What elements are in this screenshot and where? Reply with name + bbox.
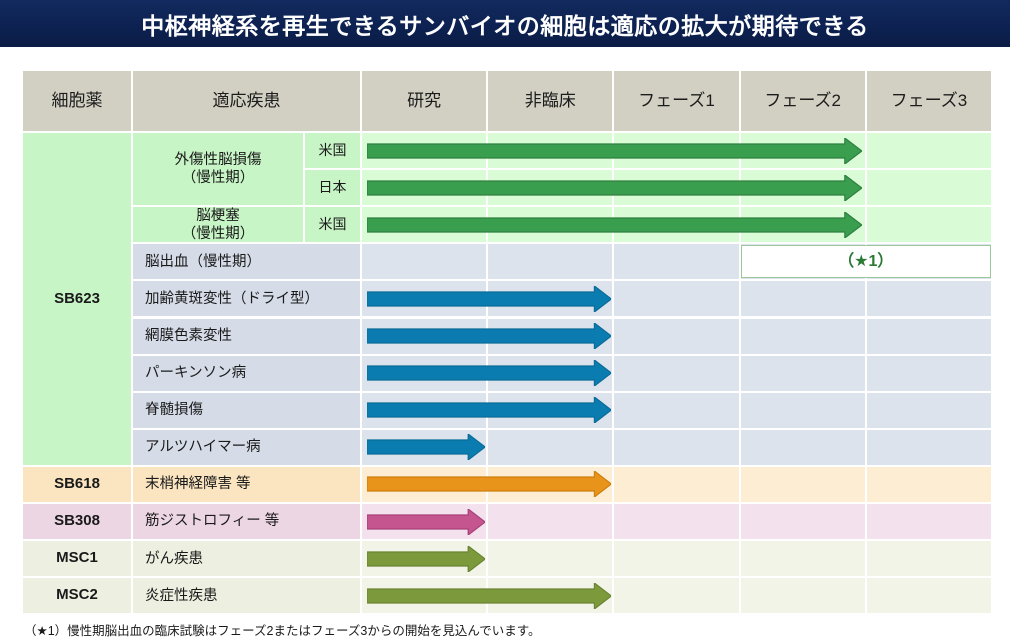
- stage-cell: [866, 577, 992, 614]
- stage-cell: [740, 577, 866, 614]
- title-banner: 中枢神経系を再生できるサンバイオの細胞は適応の拡大が期待できる: [0, 0, 1010, 47]
- page-title: 中枢神経系を再生できるサンバイオの細胞は適応の拡大が期待できる: [141, 7, 869, 41]
- region-label: 日本: [304, 169, 361, 206]
- header-drug: 細胞薬: [22, 70, 132, 132]
- disease-label: 脳出血（慢性期）: [132, 243, 361, 280]
- stage-cell: [487, 540, 613, 577]
- stage-cell: [361, 243, 487, 280]
- stage-cell: [613, 243, 739, 280]
- header-stage-4: フェーズ2: [740, 70, 866, 132]
- stage-cell: [866, 280, 992, 317]
- stage-cell: [866, 503, 992, 540]
- disease-label: 筋ジストロフィー 等: [132, 503, 361, 540]
- pipeline-arrow-blue: [367, 397, 611, 423]
- disease-label: 脳梗塞（慢性期）: [132, 206, 304, 243]
- stage-cell: [740, 355, 866, 392]
- stage-cell: [866, 540, 992, 577]
- pipeline-arrow-green: [367, 138, 862, 164]
- stage-cell: [866, 429, 992, 466]
- disease-label: 末梢神経障害 等: [132, 466, 361, 503]
- stage-cell: [866, 132, 992, 169]
- disease-label: 炎症性疾患: [132, 577, 361, 614]
- pipeline-grid: 細胞薬適応疾患研究非臨床フェーズ1フェーズ2フェーズ3SB623SB618SB3…: [22, 70, 992, 615]
- drug-label-msc2: MSC2: [22, 577, 132, 614]
- pipeline-arrow-green: [367, 175, 862, 201]
- header-stage-1: 研究: [361, 70, 487, 132]
- stage-cell: [866, 466, 992, 503]
- disease-label: 網膜色素変性: [132, 318, 361, 355]
- stage-cell: [740, 318, 866, 355]
- pipeline-table: 細胞薬適応疾患研究非臨床フェーズ1フェーズ2フェーズ3SB623SB618SB3…: [22, 70, 992, 615]
- stage-cell: [487, 243, 613, 280]
- pipeline-arrow-pink: [367, 509, 485, 535]
- header-indication: 適応疾患: [132, 70, 361, 132]
- stage-cell: [613, 318, 739, 355]
- drug-label-sb623: SB623: [22, 132, 132, 466]
- pipeline-arrow-blue: [367, 434, 485, 460]
- header-stage-5: フェーズ3: [866, 70, 992, 132]
- pipeline-arrow-blue: [367, 360, 611, 386]
- stage-cell: [740, 429, 866, 466]
- stage-cell: [613, 577, 739, 614]
- note-star-1-cell: （★1）: [741, 245, 991, 278]
- header-stage-2: 非臨床: [487, 70, 613, 132]
- stage-cell: [613, 540, 739, 577]
- disease-label: 外傷性脳損傷（慢性期）: [132, 132, 304, 206]
- stage-cell: [613, 392, 739, 429]
- disease-label: 加齢黄斑変性（ドライ型）: [132, 280, 361, 317]
- stage-cell: [487, 429, 613, 466]
- drug-label-sb308: SB308: [22, 503, 132, 540]
- stage-cell: [866, 169, 992, 206]
- pipeline-arrow-olive: [367, 583, 611, 609]
- stage-cell: [740, 503, 866, 540]
- disease-label: パーキンソン病: [132, 355, 361, 392]
- stage-cell: [487, 503, 613, 540]
- stage-cell: [740, 392, 866, 429]
- stage-cell: [866, 355, 992, 392]
- stage-cell: [740, 540, 866, 577]
- footnote: （★1）慢性期脳出血の臨床試験はフェーズ2またはフェーズ3からの開始を見込んでい…: [24, 620, 540, 639]
- pipeline-arrow-blue: [367, 286, 611, 312]
- stage-cell: [740, 280, 866, 317]
- pipeline-arrow-blue: [367, 323, 611, 349]
- disease-label: 脊髄損傷: [132, 392, 361, 429]
- stage-cell: [613, 503, 739, 540]
- stage-cell: [866, 206, 992, 243]
- pipeline-arrow-orange: [367, 471, 611, 497]
- stage-cell: [613, 355, 739, 392]
- drug-label-msc1: MSC1: [22, 540, 132, 577]
- stage-cell: [740, 466, 866, 503]
- region-label: 米国: [304, 132, 361, 169]
- pipeline-arrow-green: [367, 212, 862, 238]
- stage-cell: [613, 280, 739, 317]
- region-label: 米国: [304, 206, 361, 243]
- stage-cell: [866, 392, 992, 429]
- stage-cell: [613, 466, 739, 503]
- stage-cell: [613, 429, 739, 466]
- drug-label-sb618: SB618: [22, 466, 132, 503]
- header-stage-3: フェーズ1: [613, 70, 739, 132]
- disease-label: アルツハイマー病: [132, 429, 361, 466]
- pipeline-arrow-olive: [367, 546, 485, 572]
- stage-cell: [866, 318, 992, 355]
- disease-label: がん疾患: [132, 540, 361, 577]
